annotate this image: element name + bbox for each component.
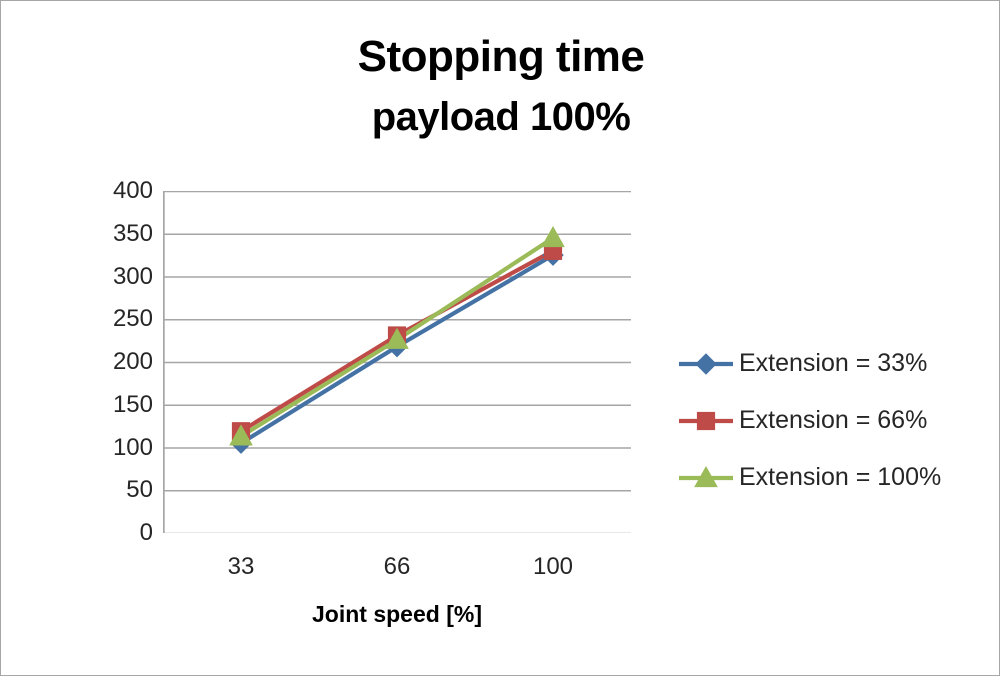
chart-figure: Stopping time payload 100% Time [ms] Joi…: [0, 0, 1000, 676]
legend-label: Extension = 66%: [739, 406, 927, 435]
x-axis-tick-labels: 3366100: [163, 555, 631, 589]
legend-key-svg: [677, 349, 735, 379]
y-axis-tick-labels: 400350300250200150100500: [79, 191, 153, 533]
y-axis-tick-label: 350: [83, 222, 153, 246]
legend-label: Extension = 100%: [739, 463, 941, 492]
y-axis-tick-label: 250: [83, 307, 153, 331]
y-axis-tick-label: 400: [83, 179, 153, 203]
x-axis-tick-label: 66: [337, 555, 457, 579]
y-axis-tick-label: 200: [83, 350, 153, 374]
plot-svg: [163, 191, 631, 533]
y-axis-tick-label: 0: [83, 521, 153, 545]
legend-marker-square-icon: [677, 406, 735, 436]
legend-entry[interactable]: Extension = 100%: [677, 449, 993, 506]
chart-legend: Extension = 33%Extension = 66%Extension …: [677, 335, 993, 506]
plot-area: [163, 191, 631, 533]
y-axis-tick-label: 100: [83, 436, 153, 460]
chart-subtitle: payload 100%: [1, 97, 1000, 137]
y-axis-tick-label: 300: [83, 265, 153, 289]
x-axis-title: Joint speed [%]: [163, 601, 631, 628]
chart-title: Stopping time: [1, 35, 1000, 79]
legend-marker-triangle-icon: [677, 463, 735, 493]
x-axis-tick-label: 33: [181, 555, 301, 579]
x-axis-tick-label: 100: [493, 555, 613, 579]
y-axis-tick-label: 150: [83, 393, 153, 417]
data-point-marker: [542, 227, 564, 247]
y-axis-tick-label: 50: [83, 478, 153, 502]
legend-key-svg: [677, 406, 735, 436]
legend-entry[interactable]: Extension = 33%: [677, 335, 993, 392]
legend-label: Extension = 33%: [739, 349, 927, 378]
legend-entry[interactable]: Extension = 66%: [677, 392, 993, 449]
legend-marker-diamond-icon: [677, 349, 735, 379]
legend-key-svg: [677, 463, 735, 493]
